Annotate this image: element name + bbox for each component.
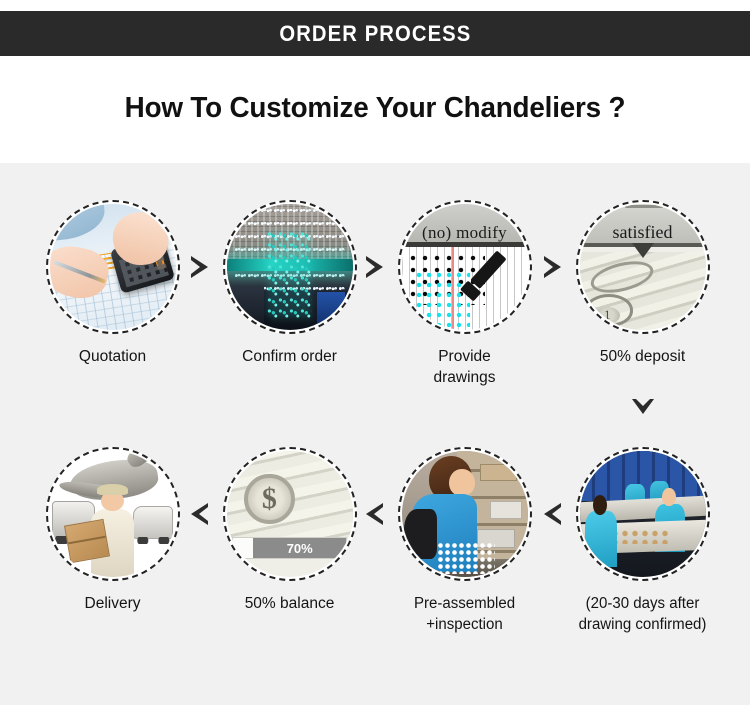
dashed-circle-frame: (no) modify xyxy=(398,200,532,334)
process-step-quotation[interactable]: Quotation xyxy=(24,200,201,368)
dashed-circle-frame: 1 satisfied xyxy=(576,200,710,334)
step-label: (20-30 days after drawing confirmed) xyxy=(557,594,729,636)
process-step-provide-drawings[interactable]: (no) modify Provide drawings xyxy=(376,200,553,389)
step-circle-wrap xyxy=(223,200,357,334)
order-process-ribbon: ORDER PROCESS xyxy=(0,11,750,56)
ribbon-title: ORDER PROCESS xyxy=(279,21,471,47)
step-label: 50% balance xyxy=(201,594,378,615)
process-step-pre-assembled[interactable]: Pre-assembled +inspection xyxy=(376,447,553,636)
chevron-down-icon xyxy=(632,399,654,414)
process-step-delivery[interactable]: Delivery xyxy=(24,447,201,615)
dashed-circle-frame xyxy=(46,447,180,581)
page-title: How To Customize Your Chandeliers ? xyxy=(15,92,735,125)
step-circle-wrap xyxy=(46,200,180,334)
step-label-line: drawings xyxy=(376,368,553,389)
dashed-circle-frame xyxy=(223,200,357,334)
process-step-lead-time[interactable]: (20-30 days after drawing confirmed) xyxy=(554,447,731,636)
worker-assembling-crystals-photo xyxy=(402,451,528,577)
step-label-line: 50% deposit xyxy=(554,347,731,368)
step-label-line: drawing confirmed) xyxy=(557,615,729,636)
banknotes-satisfied-photo: 1 satisfied xyxy=(580,204,706,330)
step-label: Delivery xyxy=(24,594,201,615)
step-label-line: 50% balance xyxy=(201,594,378,615)
delivery-man-plane-truck-photo xyxy=(50,451,176,577)
process-step-confirm-order[interactable]: Confirm order xyxy=(201,200,378,368)
dollar-sign-icon: $ xyxy=(244,474,294,524)
step-label: Confirm order xyxy=(201,347,378,368)
process-step-deposit[interactable]: 1 satisfied 50% deposit xyxy=(554,200,731,368)
step-label: Pre-assembled +inspection xyxy=(379,594,551,636)
step-label-line: (20-30 days after xyxy=(557,594,729,615)
step-label-line: Quotation xyxy=(24,347,201,368)
step-circle-wrap: $ 70% xyxy=(223,447,357,581)
step-label-line: +inspection xyxy=(379,615,551,636)
process-step-balance[interactable]: $ 70% 50% balance xyxy=(201,447,378,615)
bottom-white-strip xyxy=(0,705,750,725)
deposit-satisfied-text: satisfied xyxy=(580,222,706,243)
factory-workers-tables-photo xyxy=(580,451,706,577)
step-label: Provide drawings xyxy=(376,347,553,389)
drawing-no-modify-text: (no) modify xyxy=(402,223,528,243)
dollar-money-progress-photo: $ 70% xyxy=(227,451,353,577)
step-label-line: Provide xyxy=(376,347,553,368)
step-circle-wrap xyxy=(46,447,180,581)
step-label-line: Delivery xyxy=(24,594,201,615)
step-circle-wrap xyxy=(576,447,710,581)
progress-bar: 70% xyxy=(232,537,348,560)
step-circle-wrap: (no) modify xyxy=(398,200,532,334)
step-circle-wrap: 1 satisfied xyxy=(576,200,710,334)
dashed-circle-frame xyxy=(46,200,180,334)
dashed-circle-frame: $ 70% xyxy=(223,447,357,581)
progress-bar-label: 70% xyxy=(253,538,346,559)
step-circle-wrap xyxy=(398,447,532,581)
hands-calculator-spreadsheet-photo xyxy=(50,204,176,330)
technical-drawing-no-modify-photo: (no) modify xyxy=(402,204,528,330)
crystal-chandelier-photo xyxy=(227,204,353,330)
dashed-circle-frame xyxy=(398,447,532,581)
step-label: 50% deposit xyxy=(554,347,731,368)
step-label-line: Pre-assembled xyxy=(379,594,551,615)
step-label-line: Confirm order xyxy=(201,347,378,368)
step-label: Quotation xyxy=(24,347,201,368)
dashed-circle-frame xyxy=(576,447,710,581)
